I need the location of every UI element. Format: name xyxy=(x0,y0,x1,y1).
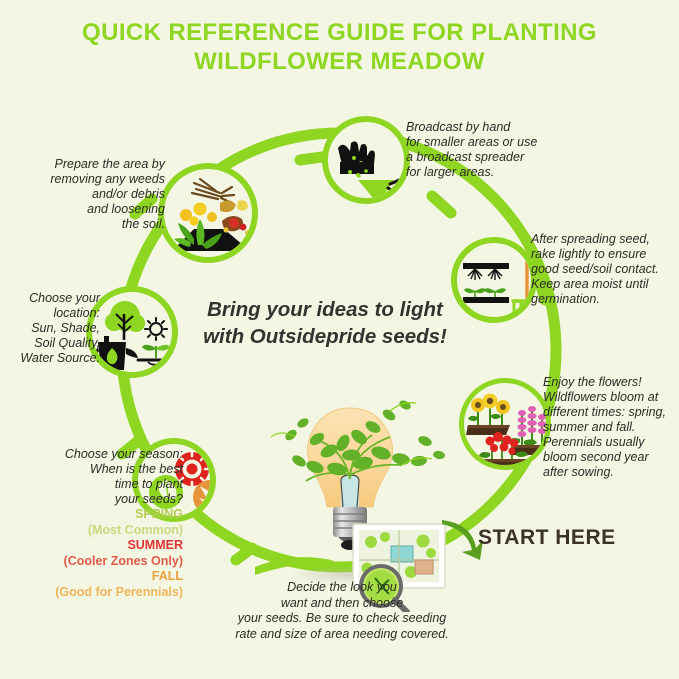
tagline-line-2: with Outsidepride seeds! xyxy=(160,323,490,350)
season-name-spring: SPRING xyxy=(8,507,183,523)
step-text-broadcast-seed: Broadcast by hand for smaller areas or u… xyxy=(406,120,566,180)
start-here-label: START HERE xyxy=(478,526,616,550)
season-legend: SPRING (Most Common) SUMMER (Cooler Zone… xyxy=(8,507,183,600)
step-text-choose-season: Choose your season: When is the best tim… xyxy=(8,447,183,507)
season-note-summer: (Cooler Zones Only) xyxy=(8,554,183,570)
step-node-prepare-area[interactable] xyxy=(158,163,258,263)
tagline-line-1: Bring your ideas to light xyxy=(160,296,490,323)
step-text-decide-look: Decide the look you want and then choose… xyxy=(172,580,512,642)
step-text-prepare-area: Prepare the area by removing any weeds a… xyxy=(40,157,165,232)
step-node-broadcast-seed[interactable] xyxy=(322,116,410,204)
season-note-fall: (Good for Perennials) xyxy=(8,585,183,601)
step-text-choose-location: Choose your location: Sun, Shade, Soil Q… xyxy=(0,291,100,366)
season-name-summer: SUMMER xyxy=(8,538,183,554)
step-text-rake-lightly: After spreading seed, rake lightly to en… xyxy=(531,232,679,307)
step-node-enjoy-flowers[interactable] xyxy=(459,378,551,470)
step-text-enjoy-flowers: Enjoy the flowers! Wildflowers bloom at … xyxy=(543,375,679,480)
infographic-canvas: QUICK REFERENCE GUIDE FOR PLANTING WILDF… xyxy=(0,0,679,679)
season-name-fall: FALL xyxy=(8,569,183,585)
center-tagline: Bring your ideas to light with Outsidepr… xyxy=(160,296,490,350)
season-note-spring: (Most Common) xyxy=(8,523,183,539)
